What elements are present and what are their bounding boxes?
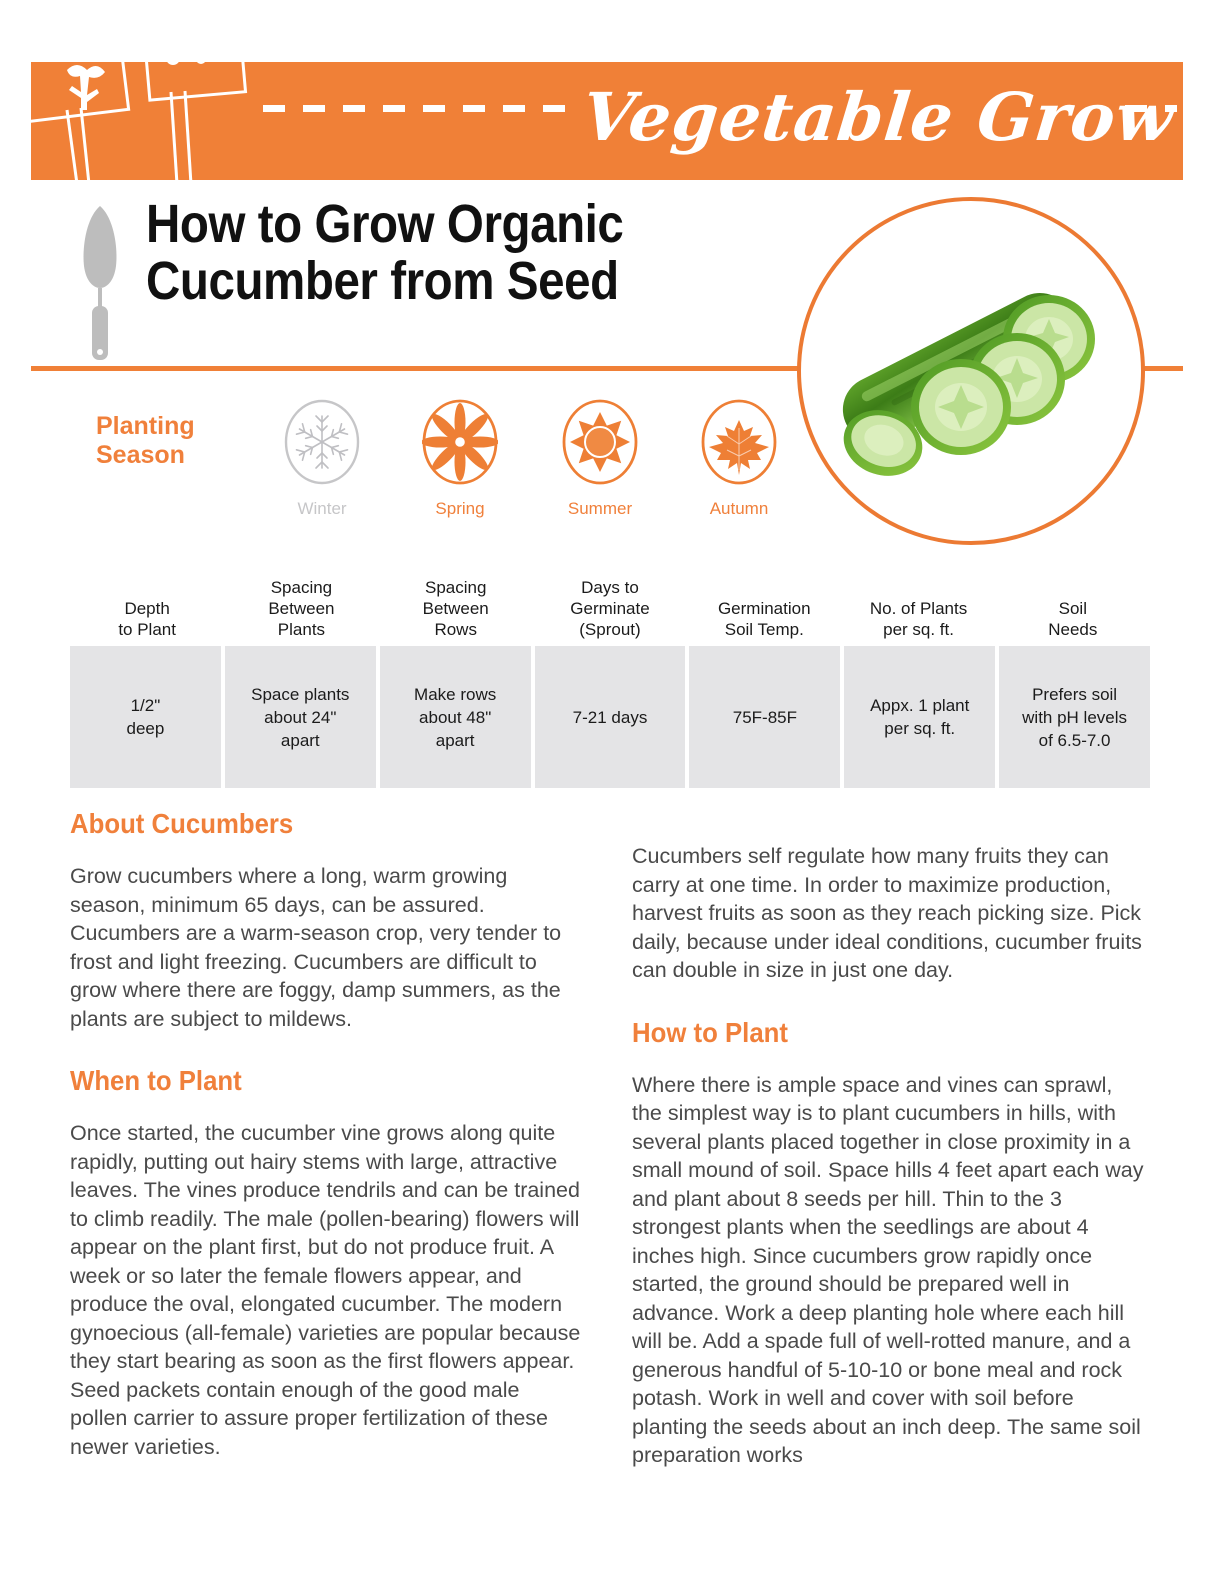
dashed-line-right (1125, 105, 1177, 112)
cucumber-photo (797, 197, 1145, 545)
cucumber-photo-inner (811, 211, 1127, 527)
dashed-line-left (263, 105, 583, 112)
page-title-line2: Cucumber from Seed (146, 253, 695, 310)
spec-value-depth: 1/2" deep (70, 646, 221, 788)
spec-header-days-germinate: Days to Germinate (Sprout) (533, 577, 687, 640)
planting-season-row: Planting Season Winter (82, 398, 782, 528)
spec-header-spacing-plants: Spacing Between Plants (224, 577, 378, 640)
sun-icon (562, 398, 638, 486)
paragraph-about-cucumbers: Grow cucumbers where a long, warm growin… (70, 862, 582, 1033)
page-title-line1: How to Grow Organic (146, 196, 695, 253)
spec-value-spacing-plants: Space plants about 24" apart (225, 646, 376, 788)
trowel-icon (78, 204, 122, 364)
page-title-block: How to Grow Organic Cucumber from Seed (70, 196, 770, 310)
season-autumn-label: Autumn (679, 499, 799, 519)
snowflake-icon (284, 398, 360, 486)
season-summer[interactable]: Summer (540, 398, 660, 519)
season-summer-label: Summer (540, 499, 660, 519)
article-column-left: About Cucumbers Grow cucumbers where a l… (70, 808, 582, 1487)
season-spring-label: Spring (400, 499, 520, 519)
spec-header-plants-per-sqft: No. of Plants per sq. ft. (841, 598, 995, 640)
spec-table: Depth to Plant Spacing Between Plants Sp… (70, 560, 1150, 788)
garden-sign-icon (31, 62, 291, 180)
heading-when-to-plant: When to Plant (70, 1065, 541, 1097)
paragraph-self-regulate: Cucumbers self regulate how many fruits … (632, 842, 1144, 985)
article-column-right: Cucumbers self regulate how many fruits … (632, 842, 1144, 1496)
spec-header-soil-needs: Soil Needs (996, 598, 1150, 640)
season-autumn[interactable]: Autumn (679, 398, 799, 519)
spec-value-soil-temp: 75F-85F (689, 646, 840, 788)
spec-value-days-germinate: 7-21 days (535, 646, 686, 788)
spec-value-soil-needs: Prefers soil with pH levels of 6.5-7.0 (999, 646, 1150, 788)
header-banner: Vegetable Grow Guides (31, 62, 1183, 180)
spec-header-depth: Depth to Plant (70, 598, 224, 640)
article-body: About Cucumbers Grow cucumbers where a l… (70, 808, 1150, 1571)
spec-header-soil-temp: Germination Soil Temp. (687, 598, 841, 640)
paragraph-when-to-plant: Once started, the cucumber vine grows al… (70, 1119, 582, 1461)
heading-about-cucumbers: About Cucumbers (70, 808, 541, 840)
planting-season-label: Planting Season (96, 412, 256, 470)
spec-table-header-row: Depth to Plant Spacing Between Plants Sp… (70, 560, 1150, 640)
spec-table-value-row: 1/2" deep Space plants about 24" apart M… (70, 646, 1150, 788)
season-winter[interactable]: Winter (262, 398, 382, 519)
cucumber-illustration (811, 211, 1127, 527)
season-winter-label: Winter (262, 499, 382, 519)
spec-value-plants-per-sqft: Appx. 1 plant per sq. ft. (844, 646, 995, 788)
season-label-line2: Season (96, 441, 256, 470)
season-label-line1: Planting (96, 412, 256, 441)
season-spring[interactable]: Spring (400, 398, 520, 519)
heading-how-to-plant: How to Plant (632, 1017, 1103, 1049)
spec-value-spacing-rows: Make rows about 48" apart (380, 646, 531, 788)
spec-header-spacing-rows: Spacing Between Rows (379, 577, 533, 640)
flower-icon (422, 398, 498, 486)
banner-script-title: Vegetable Grow Guides (577, 62, 1179, 176)
paragraph-how-to-plant: Where there is ample space and vines can… (632, 1071, 1144, 1470)
page-title: How to Grow Organic Cucumber from Seed (146, 196, 695, 310)
maple-leaf-icon (701, 398, 777, 486)
